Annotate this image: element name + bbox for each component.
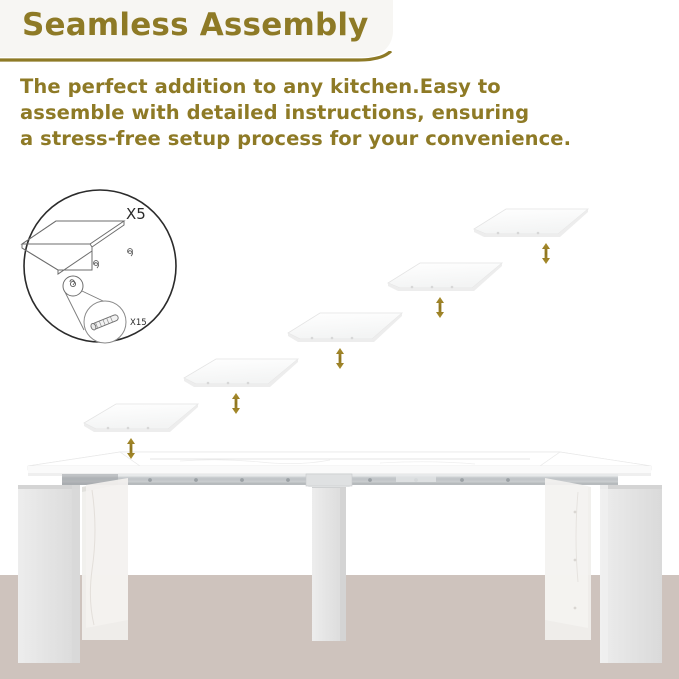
arrow-3 (336, 348, 344, 369)
arrow-4 (436, 297, 444, 318)
table-top (28, 452, 651, 476)
callout-panel-count: X5 (126, 205, 146, 223)
callout-screw-count: X15 (130, 318, 147, 328)
arrow-5 (542, 243, 550, 264)
table-leg-front-right (600, 485, 662, 663)
floating-panel-3 (288, 313, 402, 342)
description-line-2: assemble with detailed instructions, ens… (20, 100, 580, 126)
floating-panel-2 (184, 359, 298, 387)
page-title: Seamless Assembly (22, 7, 369, 43)
extension-rail (62, 474, 618, 486)
description-text: The perfect addition to any kitchen.Easy… (20, 74, 580, 152)
arrow-2 (232, 393, 240, 414)
description-line-3: a stress-free setup process for your con… (20, 126, 580, 152)
infographic-canvas: X5 X15 Seamless Assembly The perfect add… (0, 0, 679, 679)
table-leg-center (308, 479, 350, 641)
table-group (18, 452, 662, 663)
table-leg-front-left (18, 485, 80, 663)
description-line-1: The perfect addition to any kitchen.Easy… (20, 74, 580, 100)
hardware-callout: X5 X15 (22, 190, 176, 343)
floating-panel-5 (474, 209, 588, 237)
floating-panel-1 (84, 404, 198, 432)
floating-panel-4 (388, 263, 502, 291)
